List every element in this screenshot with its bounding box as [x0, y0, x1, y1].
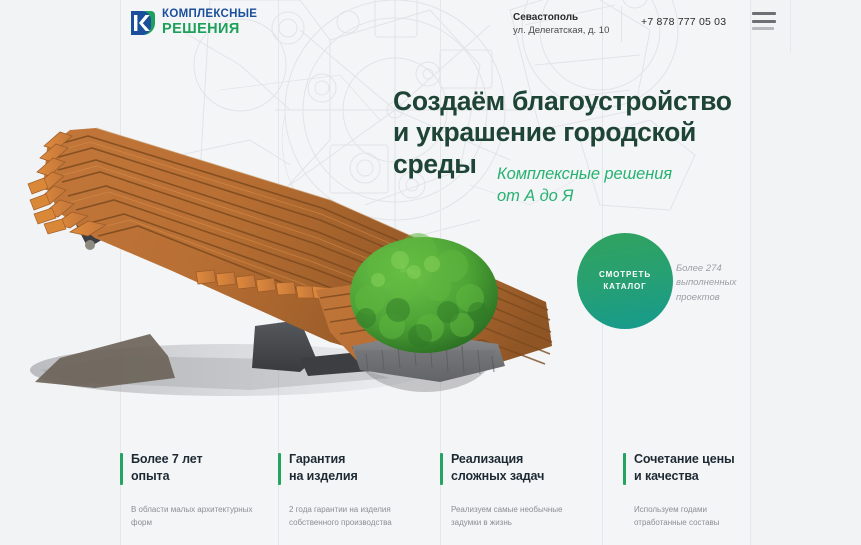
header-divider [621, 6, 622, 42]
feature-title-line-2: на изделия [289, 468, 438, 485]
k-logo-mark-icon [130, 10, 156, 36]
subtitle-line-2: от А до Я [497, 185, 747, 207]
cta-line-2: КАТАЛОГ [603, 281, 646, 293]
feature-title: Гарантия на изделия [289, 451, 438, 486]
feature-accent-bar [278, 453, 281, 485]
feature-title: Реализация сложных задач [451, 451, 600, 486]
feature-description: Используем годами отработанные составы [634, 503, 783, 529]
site-logo[interactable]: КОМПЛЕКСНЫЕ РЕШЕНИЯ [130, 9, 257, 36]
feature-desc-line-1: В области малых архитектурных [131, 503, 280, 516]
site-header: КОМПЛЕКСНЫЕ РЕШЕНИЯ Севастополь ул. Деле… [0, 0, 861, 52]
feature-desc-line-1: 2 года гарантии на изделия [289, 503, 438, 516]
projects-note-line-3: проектов [676, 291, 768, 305]
feature-description: В области малых архитектурных форм [131, 503, 280, 529]
feature-accent-bar [440, 453, 443, 485]
feature-card-complex-tasks: Реализация сложных задач Реализуем самые… [440, 451, 600, 529]
city-address-block[interactable]: Севастополь ул. Делегатская, д. 10 [513, 11, 609, 37]
features-row: Более 7 лет опыта В области малых архите… [0, 440, 861, 545]
hero-subtitle: Комплексные решения от А до Я [497, 163, 747, 208]
feature-desc-line-1: Реализуем самые необычные [451, 503, 600, 516]
feature-desc-line-2: задумки в жизнь [451, 516, 600, 529]
feature-desc-line-1: Используем годами [634, 503, 783, 516]
feature-description: Реализуем самые необычные задумки в жизн… [451, 503, 600, 529]
phone-number-link[interactable]: +7 878 777 05 03 [641, 16, 726, 28]
feature-desc-line-2: собственного производства [289, 516, 438, 529]
feature-title-line-2: опыта [131, 468, 280, 485]
cta-line-1: СМОТРЕТЬ [599, 269, 651, 281]
projects-note-line-2: выполненных [676, 276, 768, 290]
feature-card-experience: Более 7 лет опыта В области малых архите… [120, 451, 280, 529]
feature-accent-bar [120, 453, 123, 485]
logo-wordmark: КОМПЛЕКСНЫЕ РЕШЕНИЯ [162, 9, 257, 36]
catalog-cta-button[interactable]: СМОТРЕТЬ КАТАЛОГ [577, 233, 673, 329]
feature-title: Более 7 лет опыта [131, 451, 280, 486]
feature-title-line-2: и качества [634, 468, 783, 485]
headline-line-1: Создаём благоустройство [393, 86, 793, 117]
landing-page: КОМПЛЕКСНЫЕ РЕШЕНИЯ Севастополь ул. Деле… [0, 0, 861, 545]
feature-description: 2 года гарантии на изделия собственного … [289, 503, 438, 529]
feature-title: Сочетание цены и качества [634, 451, 783, 486]
subtitle-line-1: Комплексные решения [497, 163, 747, 185]
feature-card-warranty: Гарантия на изделия 2 года гарантии на и… [278, 451, 438, 529]
city-name: Севастополь [513, 11, 609, 25]
feature-card-price-quality: Сочетание цены и качества Используем год… [623, 451, 783, 529]
projects-count-note: Более 274 выполненных проектов [676, 262, 768, 305]
logo-line-2: РЕШЕНИЯ [162, 22, 257, 37]
feature-desc-line-2: форм [131, 516, 280, 529]
feature-title-line-2: сложных задач [451, 468, 600, 485]
feature-title-line-1: Более 7 лет [131, 451, 280, 468]
city-address: ул. Делегатская, д. 10 [513, 25, 609, 38]
feature-title-line-1: Сочетание цены [634, 451, 783, 468]
feature-desc-line-2: отработанные составы [634, 516, 783, 529]
feature-title-line-1: Гарантия [289, 451, 438, 468]
logo-line-1: КОМПЛЕКСНЫЕ [162, 9, 257, 21]
header-divider-right [790, 0, 791, 52]
hamburger-menu-icon[interactable] [752, 12, 776, 30]
headline-line-2: и украшение городской [393, 117, 793, 148]
feature-title-line-1: Реализация [451, 451, 600, 468]
feature-accent-bar [623, 453, 626, 485]
projects-note-line-1: Более 274 [676, 262, 768, 276]
